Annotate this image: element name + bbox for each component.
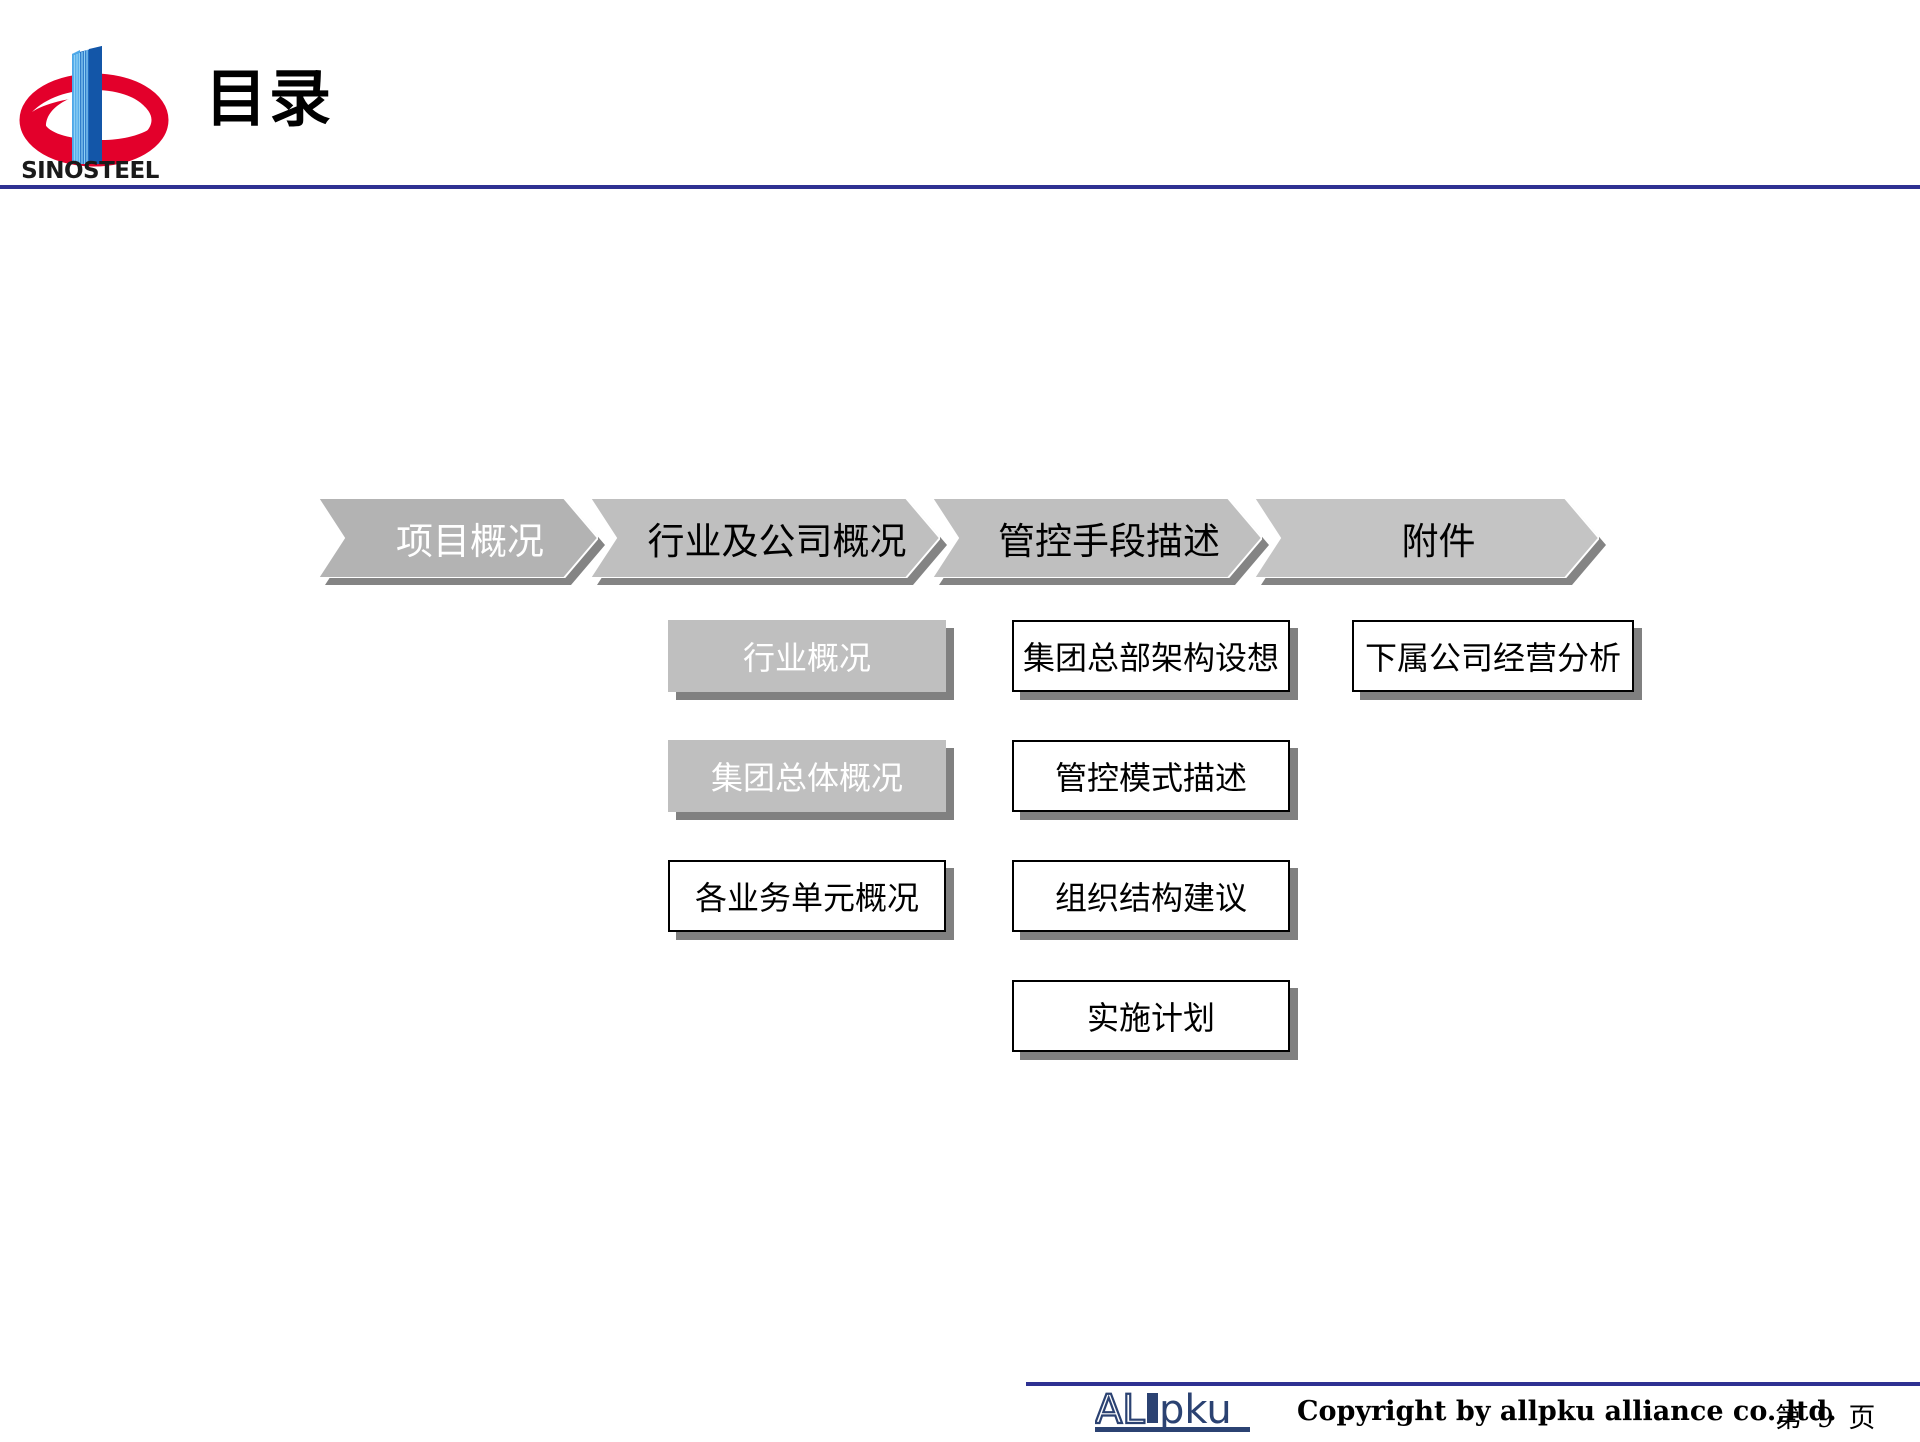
chevron-label: 行业及公司概况: [590, 498, 940, 578]
copyright-text: Copyright by allpku alliance co.,ltd.: [1297, 1396, 1837, 1427]
topic-box-industry-company-overview-2[interactable]: 集团总体概况: [668, 740, 946, 812]
topic-box-label: 行业概况: [743, 633, 871, 679]
topic-box-control-methods-description-4[interactable]: 实施计划: [1012, 980, 1290, 1052]
chevron-1[interactable]: 项目概况: [318, 498, 598, 578]
topic-box-label: 管控模式描述: [1055, 753, 1247, 799]
header-divider: [0, 185, 1920, 189]
page-number: 第 9 页: [1775, 1396, 1878, 1435]
sinosteel-logo-graphic: SINOSTEEL: [10, 20, 170, 180]
topic-box-control-methods-description-3[interactable]: 组织结构建议: [1012, 860, 1290, 932]
chevron-4[interactable]: 附件: [1254, 498, 1599, 578]
topic-box-label: 下属公司经营分析: [1365, 633, 1621, 679]
topic-box-industry-company-overview-1[interactable]: 行业概况: [668, 620, 946, 692]
chevron-2[interactable]: 行业及公司概况: [590, 498, 940, 578]
topic-box-control-methods-description-2[interactable]: 管控模式描述: [1012, 740, 1290, 812]
topic-box-label: 集团总体概况: [711, 753, 903, 799]
allpku-pku-text: pku: [1159, 1387, 1232, 1433]
chevron-3[interactable]: 管控手段描述: [932, 498, 1262, 578]
topic-box-appendix-1[interactable]: 下属公司经营分析: [1352, 620, 1634, 692]
sinosteel-logo: SINOSTEEL: [10, 20, 170, 180]
chevron-label: 附件: [1254, 498, 1599, 578]
topic-box-label: 实施计划: [1087, 993, 1215, 1039]
chevron-label: 项目概况: [318, 498, 598, 578]
topic-box-label: 各业务单元概况: [695, 873, 919, 919]
topic-box-control-methods-description-1[interactable]: 集团总部架构设想: [1012, 620, 1290, 692]
tower-shape: [72, 46, 102, 164]
allpku-block-glyph: [1147, 1393, 1158, 1423]
topic-box-label: 集团总部架构设想: [1023, 633, 1279, 679]
topic-box-label: 组织结构建议: [1055, 873, 1247, 919]
slide-header: SINOSTEEL 目录: [0, 0, 1920, 190]
allpku-outline-text: AL: [1095, 1387, 1145, 1433]
chevron-label: 管控手段描述: [932, 498, 1262, 578]
footer-divider: [1026, 1382, 1920, 1386]
allpku-underline: [1095, 1427, 1250, 1432]
allpku-logo-graphic: AL pku: [1095, 1387, 1250, 1437]
topic-box-industry-company-overview-3[interactable]: 各业务单元概况: [668, 860, 946, 932]
allpku-logo: AL pku: [1095, 1387, 1250, 1437]
page-title: 目录: [205, 48, 333, 138]
sinosteel-wordmark-text: SINOSTEEL: [21, 158, 160, 180]
